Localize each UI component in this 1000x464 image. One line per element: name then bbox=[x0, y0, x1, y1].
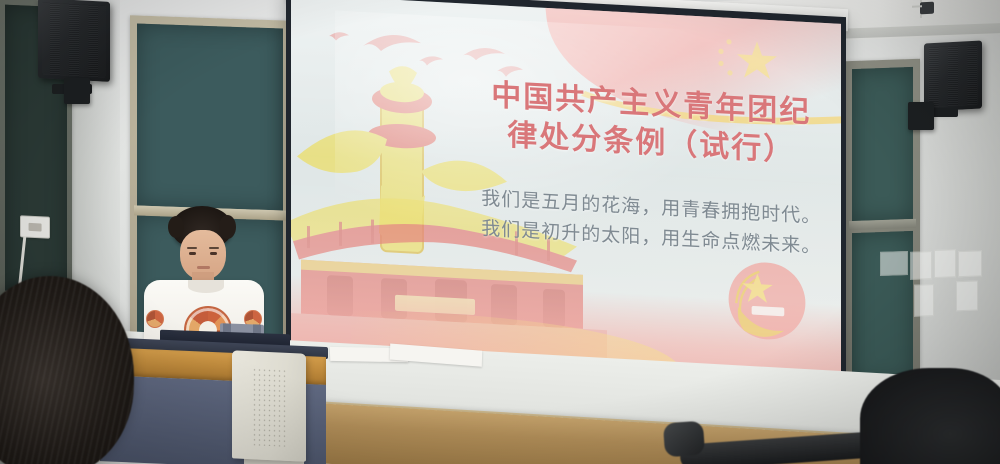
wall-notices bbox=[880, 248, 990, 342]
chalkboard-divider bbox=[849, 219, 916, 230]
speaker-cabinet bbox=[924, 40, 982, 111]
wall-speaker-right bbox=[924, 42, 982, 110]
security-camera-icon bbox=[920, 2, 934, 15]
collar bbox=[188, 280, 224, 293]
chair-armrest-cap bbox=[663, 421, 705, 458]
wall-notice bbox=[914, 284, 934, 317]
outlet-slot bbox=[29, 223, 42, 231]
speaker-cabinet bbox=[38, 0, 110, 82]
wall-notice bbox=[956, 280, 978, 311]
wall-notice bbox=[910, 251, 932, 280]
eyebrow-left bbox=[187, 247, 197, 249]
slide-text-block: 中国共产主义青年团纪 律处分条例（试行） 我们是五月的花海，用青春拥抱时代。 我… bbox=[478, 76, 825, 263]
wall-speaker-left bbox=[38, 0, 110, 80]
eye-right bbox=[210, 252, 217, 255]
chalkboard-pane-upper bbox=[137, 23, 283, 210]
projection-screen[interactable]: 中国共产主义青年团纪 律处分条例（试行） 我们是五月的花海，用青春拥抱时代。 我… bbox=[286, 0, 846, 389]
wall-notice bbox=[958, 250, 982, 277]
speaker-mount-bracket bbox=[908, 102, 934, 130]
eyebrow-right bbox=[209, 247, 219, 249]
computer-vent-grille bbox=[252, 367, 286, 447]
classroom-presentation-photo: 中国共产主义青年团纪 律处分条例（试行） 我们是五月的花海，用青春拥抱时代。 我… bbox=[0, 0, 1000, 464]
wall-notice bbox=[880, 251, 908, 276]
presentation-slide: 中国共产主义青年团纪 律处分条例（试行） 我们是五月的花海，用青春拥抱时代。 我… bbox=[291, 0, 841, 381]
wall-notice bbox=[934, 249, 956, 278]
mouth bbox=[197, 266, 210, 269]
sleeve-patch-left bbox=[146, 310, 164, 328]
speaker-grille bbox=[928, 45, 978, 108]
chalkboard-pane-upper bbox=[852, 67, 913, 221]
foreground-chair bbox=[860, 368, 1000, 464]
eye-left bbox=[189, 252, 196, 255]
youth-league-emblem-icon bbox=[719, 252, 815, 353]
desktop-computer-tower[interactable] bbox=[232, 350, 306, 461]
speaker-mount-bracket bbox=[64, 78, 90, 104]
speaker-grille bbox=[42, 2, 106, 77]
screen-border: 中国共产主义青年团纪 律处分条例（试行） 我们是五月的花海，用青春拥抱时代。 我… bbox=[286, 0, 846, 389]
